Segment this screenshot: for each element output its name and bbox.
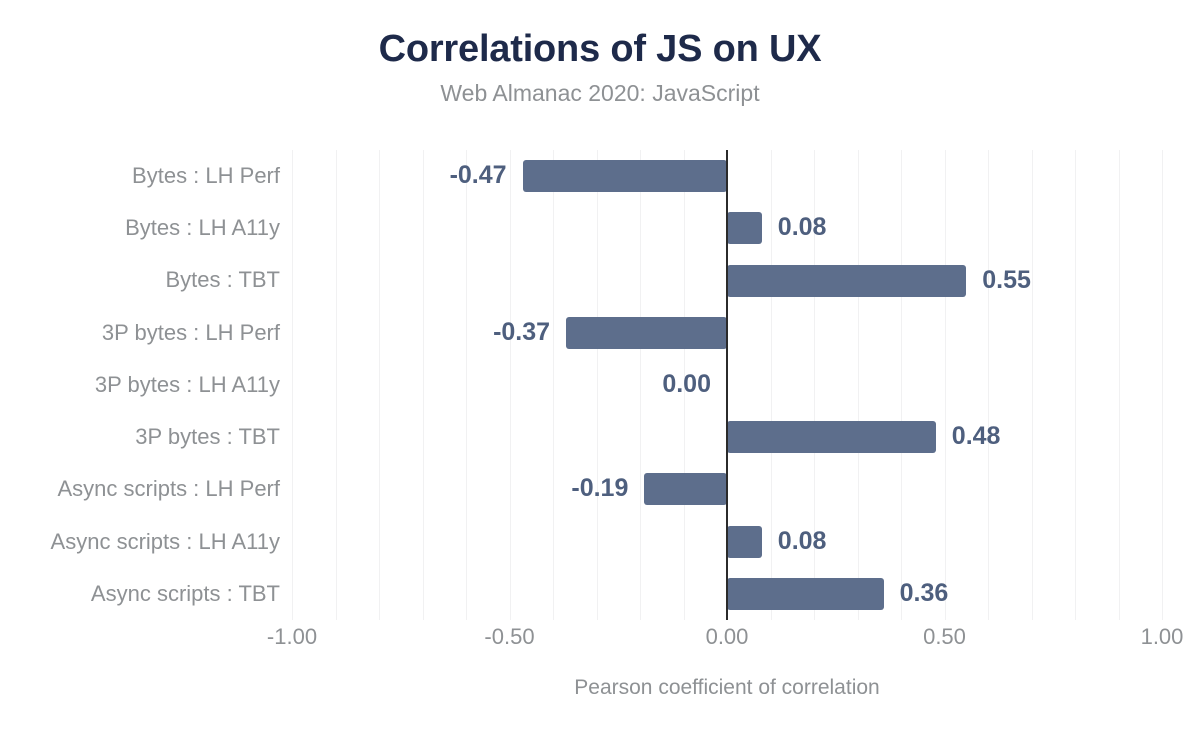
bar[interactable]	[727, 265, 966, 297]
x-axis-tick-label: -1.00	[267, 624, 317, 650]
bar-value-label: -0.37	[493, 316, 550, 348]
bar-value-label: -0.47	[450, 159, 507, 191]
y-axis-category-label: Async scripts : LH A11y	[0, 516, 280, 568]
y-axis-category-label: Bytes : TBT	[0, 254, 280, 306]
bar[interactable]	[727, 421, 936, 453]
y-axis-category-label: Bytes : LH A11y	[0, 202, 280, 254]
y-axis-category-label: 3P bytes : LH A11y	[0, 359, 280, 411]
bar-value-label: 0.08	[778, 525, 827, 557]
zero-baseline	[726, 150, 728, 620]
x-axis-tick-labels: -1.00-0.500.000.501.00	[292, 624, 1162, 658]
bar-value-label: -0.19	[571, 472, 628, 504]
bar[interactable]	[727, 526, 762, 558]
x-axis-tick-label: -0.50	[484, 624, 534, 650]
y-axis-category-label: Bytes : LH Perf	[0, 150, 280, 202]
bar-value-label: 0.55	[982, 264, 1031, 296]
y-axis-category-label: Async scripts : LH Perf	[0, 463, 280, 515]
gridline	[1162, 150, 1163, 620]
x-axis-tick-label: 0.00	[706, 624, 749, 650]
bar[interactable]	[644, 473, 727, 505]
plot-area: -0.470.080.55-0.370.000.48-0.190.080.36	[292, 150, 1162, 620]
bar[interactable]	[727, 578, 884, 610]
bar[interactable]	[566, 317, 727, 349]
x-axis-tick-label: 1.00	[1141, 624, 1184, 650]
y-axis-category-labels: Bytes : LH PerfBytes : LH A11yBytes : TB…	[0, 150, 280, 620]
bar-value-label: 0.48	[952, 420, 1001, 452]
bar-value-label: 0.08	[778, 211, 827, 243]
x-axis-tick-label: 0.50	[923, 624, 966, 650]
chart-plot-wrapper: Bytes : LH PerfBytes : LH A11yBytes : TB…	[0, 0, 1200, 742]
bar-value-label: 0.00	[662, 368, 711, 400]
x-axis-title: Pearson coefficient of correlation	[292, 676, 1162, 700]
bar[interactable]	[727, 212, 762, 244]
y-axis-category-label: 3P bytes : LH Perf	[0, 307, 280, 359]
bar[interactable]	[523, 160, 727, 192]
bar-value-label: 0.36	[900, 577, 949, 609]
y-axis-category-label: 3P bytes : TBT	[0, 411, 280, 463]
y-axis-category-label: Async scripts : TBT	[0, 568, 280, 620]
